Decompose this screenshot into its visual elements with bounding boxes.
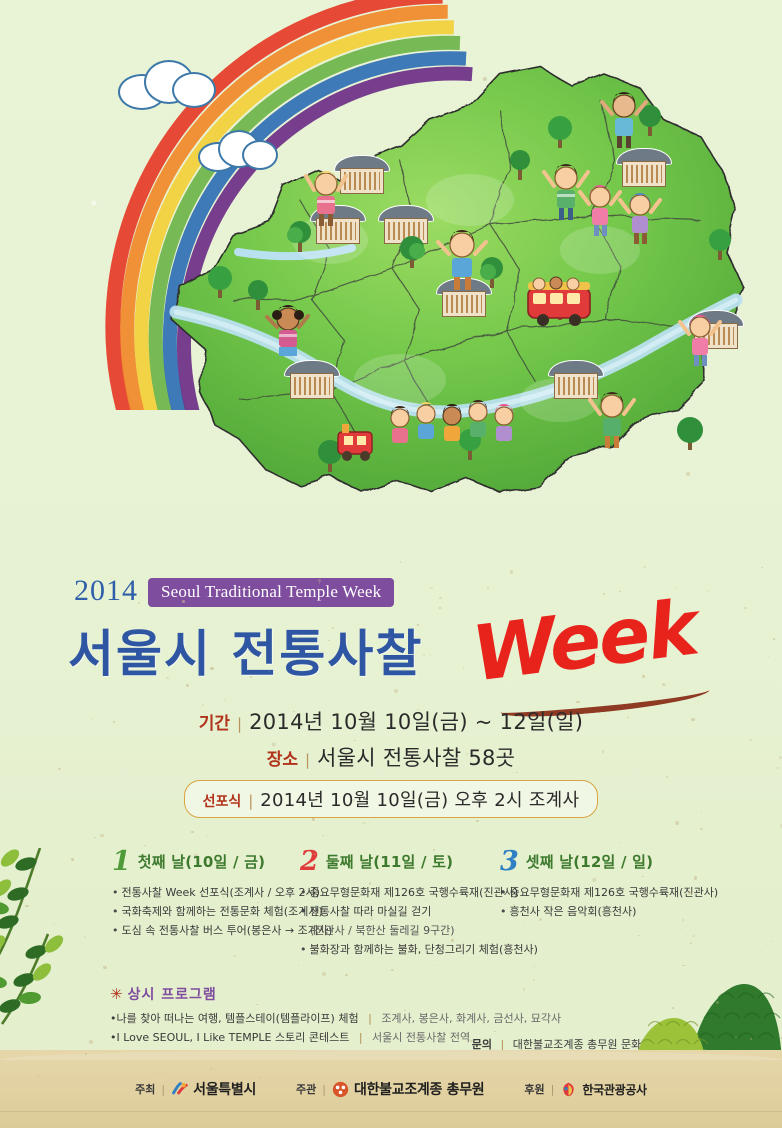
- paper-speck: [744, 607, 747, 609]
- sponsor-role: 주관: [296, 1081, 316, 1097]
- schedule-item-text: 전통사찰 따라 마실길 걷기: [310, 905, 432, 918]
- paper-speck: [25, 905, 28, 907]
- paper-speck: [394, 689, 397, 692]
- sponsor-name: 서울특별시: [193, 1079, 256, 1099]
- always-program-place: 조계사, 봉은사, 화계사, 금선사, 묘각사: [381, 1012, 561, 1025]
- paper-speck: [37, 979, 39, 981]
- schedule-subitem-text: (진관사 / 북한산 둘레길 9구간): [310, 924, 455, 937]
- paper-speck: [643, 566, 646, 568]
- paper-speck: [650, 1023, 651, 1024]
- sponsor-host: 주최 | 서울특별시: [135, 1079, 256, 1099]
- paper-speck: [686, 935, 687, 936]
- period-row: 기간 | 2014년 10월 10일(금) ~ 12일(일): [0, 706, 782, 736]
- child-icon: [438, 230, 486, 290]
- paper-speck: [224, 700, 226, 701]
- week-wordmark: Week: [467, 583, 701, 699]
- paper-speck: [293, 711, 295, 712]
- child-icon: [580, 185, 620, 236]
- paper-speck: [701, 811, 702, 812]
- poster-root: 2014 Seoul Traditional Temple Week 서울시 전…: [0, 0, 782, 1128]
- separator: |: [368, 1012, 372, 1025]
- paper-speck: [166, 677, 169, 679]
- paper-speck: [603, 593, 604, 595]
- ceremony-label: 선포식: [203, 791, 242, 811]
- paper-speck: [210, 667, 213, 670]
- child-icon: [620, 193, 660, 244]
- day-header-3: 3 셋째 날(12일 / 일): [500, 848, 718, 875]
- train-icon: [338, 424, 372, 461]
- day-number-1: 1: [112, 848, 131, 875]
- kto-logo-icon: [560, 1081, 577, 1098]
- paper-speck: [494, 1031, 495, 1032]
- paper-speck: [654, 1021, 656, 1023]
- day-title-3: 셋째 날(12일 / 일): [526, 851, 653, 872]
- paper-speck: [191, 831, 194, 833]
- seoul-logo-icon: [171, 1081, 188, 1098]
- schedule-item-text: 국화축제와 함께하는 전통문화 체험(조계사): [122, 905, 323, 918]
- paper-speck: [638, 935, 639, 936]
- paper-speck: [602, 750, 604, 753]
- child-icon: [306, 171, 346, 226]
- paper-speck: [776, 767, 779, 769]
- place-label: 장소: [267, 745, 298, 770]
- separator: |: [322, 1083, 326, 1096]
- paper-speck: [417, 709, 419, 711]
- sponsor-supporter: 후원 | 한국관광공사: [524, 1081, 646, 1098]
- sponsor-name: 대한불교조계종 총무원: [354, 1079, 484, 1099]
- tour-bus-icon: [528, 277, 590, 326]
- paper-speck: [94, 837, 95, 838]
- paper-speck: [182, 600, 185, 603]
- paper-speck: [318, 579, 321, 582]
- paper-speck: [439, 607, 441, 609]
- schedule-item: •중요무형문화재 제126호 국행수륙재(진관사): [500, 884, 718, 903]
- schedule-subitem: (진관사 / 북한산 둘레길 9구간): [300, 922, 538, 941]
- paper-speck: [328, 640, 329, 641]
- year-label: 2014: [74, 574, 138, 608]
- always-programs-header: ✳ 상시 프로그램: [110, 984, 561, 1004]
- day-number-3: 3: [500, 848, 519, 875]
- paper-speck: [85, 1053, 87, 1055]
- ground-edge: [0, 1050, 782, 1060]
- sponsor-role: 주최: [135, 1081, 155, 1097]
- paper-speck: [672, 1007, 674, 1009]
- paper-speck: [483, 721, 484, 722]
- schedule-item: •흥천사 작은 음악회(흥천사): [500, 903, 718, 922]
- paper-speck: [158, 864, 160, 866]
- paper-speck: [369, 822, 371, 823]
- schedule-item-text: 중요무형문화재 제126호 국행수륙재(진관사): [510, 886, 719, 899]
- paper-speck: [71, 858, 74, 861]
- paper-speck: [312, 818, 315, 821]
- paper-speck: [700, 828, 703, 830]
- schedule-item-text: 흥천사 작은 음악회(흥천사): [510, 905, 637, 918]
- paper-speck: [389, 637, 391, 638]
- paper-speck: [371, 917, 373, 920]
- seoul-map-illustration: [0, 0, 782, 560]
- paper-speck: [322, 972, 325, 976]
- paper-speck: [322, 835, 323, 837]
- paper-speck: [144, 845, 145, 846]
- always-program-item: •나를 찾아 떠나는 여행, 템플스테이(템플라이프) 체험 | 조계사, 봉은…: [110, 1009, 561, 1028]
- day-column-3: 3 셋째 날(12일 / 일) •중요무형문화재 제126호 국행수륙재(진관사…: [500, 848, 718, 922]
- separator: |: [359, 1031, 363, 1044]
- paper-speck: [194, 854, 197, 856]
- paper-speck: [417, 624, 419, 625]
- sponsor-name: 한국관광공사: [582, 1081, 646, 1098]
- paper-speck: [35, 957, 36, 958]
- paper-speck: [430, 587, 433, 589]
- paper-speck: [369, 882, 371, 884]
- schedule-item-text: 불화장과 함께하는 불화, 단청그리기 체험(흥천사): [310, 943, 538, 956]
- day-title-2: 둘째 날(11일 / 토): [326, 851, 453, 872]
- paper-speck: [466, 753, 468, 754]
- always-program-place: 서울시 전통사찰 전역: [372, 1031, 470, 1044]
- paper-speck: [430, 654, 431, 655]
- paper-speck: [750, 1038, 752, 1040]
- star-icon: ✳: [110, 985, 123, 1003]
- paper-speck: [210, 1068, 212, 1070]
- place-row: 장소 | 서울시 전통사찰 58곳: [0, 742, 782, 772]
- always-program-name: 나를 찾아 떠나는 여행, 템플스테이(템플라이프) 체험: [117, 1012, 359, 1025]
- paper-speck: [620, 842, 622, 843]
- paper-speck: [691, 718, 694, 721]
- paper-speck: [298, 965, 299, 966]
- child-group-icon: [391, 400, 513, 443]
- jogye-logo-icon: [332, 1081, 349, 1098]
- paper-speck: [510, 570, 514, 574]
- paper-speck: [596, 656, 598, 657]
- place-value: 서울시 전통사찰 58곳: [317, 742, 515, 772]
- day-title-1: 첫째 날(10일 / 금): [138, 851, 265, 872]
- paper-speck: [354, 740, 356, 741]
- paper-speck: [707, 590, 709, 592]
- paper-speck: [476, 820, 479, 822]
- paper-speck: [513, 904, 514, 905]
- paper-speck: [400, 561, 402, 563]
- day-number-2: 2: [300, 848, 319, 875]
- ceremony-badge: 선포식 | 2014년 10월 10일(금) 오후 2시 조계사: [184, 780, 599, 818]
- paper-speck: [523, 926, 524, 927]
- separator: |: [248, 792, 253, 810]
- paper-speck: [439, 597, 442, 599]
- paper-speck: [768, 656, 769, 657]
- paper-speck: [692, 935, 695, 937]
- sponsor-bar: 주최 | 서울특별시 주관 | 대한: [0, 1072, 782, 1106]
- paper-speck: [362, 822, 365, 825]
- paper-speck: [463, 667, 464, 668]
- child-icon: [267, 305, 308, 356]
- separator: |: [161, 1083, 165, 1096]
- paper-speck: [202, 704, 204, 705]
- separator: |: [237, 715, 242, 733]
- child-icon: [590, 392, 634, 448]
- paper-speck: [675, 821, 678, 824]
- paper-speck: [533, 979, 535, 981]
- separator: |: [305, 751, 310, 769]
- paper-speck: [642, 876, 644, 877]
- ceremony-value: 2014년 10월 10일(금) 오후 2시 조계사: [260, 786, 579, 812]
- footer-divider: [0, 1111, 782, 1112]
- paper-speck: [391, 969, 394, 971]
- page-title: 서울시 전통사찰: [68, 614, 423, 686]
- children-icons: [0, 0, 782, 560]
- event-info: 기간 | 2014년 10월 10일(금) ~ 12일(일) 장소 | 서울시 …: [0, 706, 782, 818]
- paper-speck: [186, 684, 189, 687]
- always-program-name: I Love SEOUL, I Like TEMPLE 스토리 콘테스트: [117, 1031, 350, 1044]
- paper-speck: [779, 756, 782, 759]
- title-block: 2014 Seoul Traditional Temple Week 서울시 전…: [0, 566, 782, 716]
- paper-speck: [619, 591, 621, 592]
- paper-speck: [767, 945, 768, 946]
- period-label: 기간: [199, 709, 230, 734]
- schedule-item: •불화장과 함께하는 불화, 단청그리기 체험(흥천사): [300, 941, 538, 960]
- paper-speck: [100, 834, 103, 837]
- schedule-item-text: 중요무형문화재 제126호 국행수륙재(진관사): [310, 886, 519, 899]
- english-title-badge: Seoul Traditional Temple Week: [148, 578, 394, 607]
- sponsor-organizer: 주관 | 대한불교조계종 총무원: [296, 1079, 484, 1099]
- sponsor-role: 후원: [524, 1081, 544, 1097]
- paper-speck: [576, 701, 579, 703]
- paper-speck: [523, 988, 525, 990]
- schedule-item-text: 전통사찰 Week 선포식(조계사 / 오후 2시): [122, 886, 320, 899]
- child-icon: [680, 315, 720, 366]
- ceremony-row: 선포식 | 2014년 10월 10일(금) 오후 2시 조계사: [0, 780, 782, 818]
- paper-speck: [89, 1040, 93, 1043]
- paper-speck: [437, 965, 438, 966]
- child-icon: [602, 92, 646, 148]
- always-programs-title: 상시 프로그램: [128, 984, 217, 1004]
- separator: |: [551, 1083, 555, 1096]
- paper-speck: [206, 835, 209, 837]
- paper-speck: [666, 776, 667, 778]
